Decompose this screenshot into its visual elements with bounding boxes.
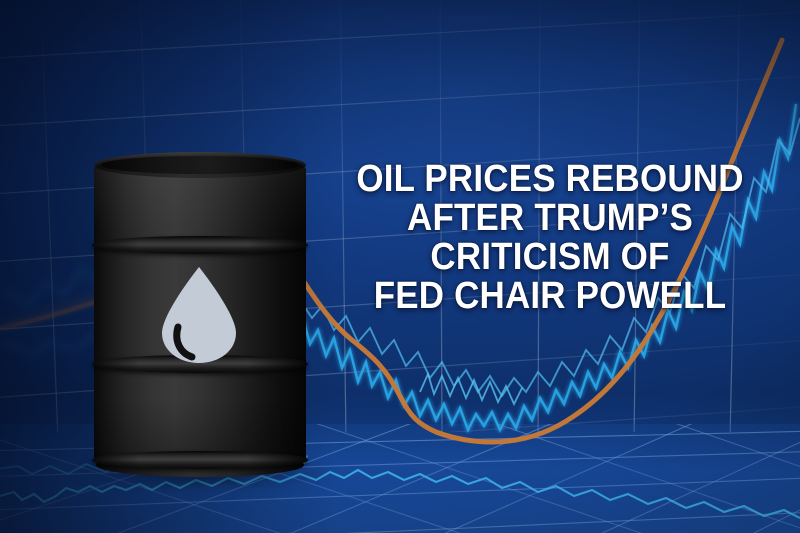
barrel-top-lid bbox=[101, 156, 299, 174]
oil-drop-icon bbox=[156, 265, 242, 365]
headline-line-2: AFTER TRUMP’S bbox=[338, 199, 761, 238]
promo-graphic: OIL PRICES REBOUND AFTER TRUMP’S CRITICI… bbox=[0, 0, 800, 533]
headline-line-4: FED CHAIR POWELL bbox=[338, 277, 761, 316]
headline: OIL PRICES REBOUND AFTER TRUMP’S CRITICI… bbox=[338, 160, 761, 316]
barrel-ring-bottom-shade bbox=[92, 451, 308, 469]
barrel-ring-top-shade bbox=[92, 236, 308, 254]
headline-line-3: CRITICISM OF bbox=[338, 238, 761, 277]
headline-line-1: OIL PRICES REBOUND bbox=[338, 160, 761, 199]
barrel-top-rim bbox=[94, 152, 306, 178]
oil-barrel bbox=[94, 152, 306, 477]
